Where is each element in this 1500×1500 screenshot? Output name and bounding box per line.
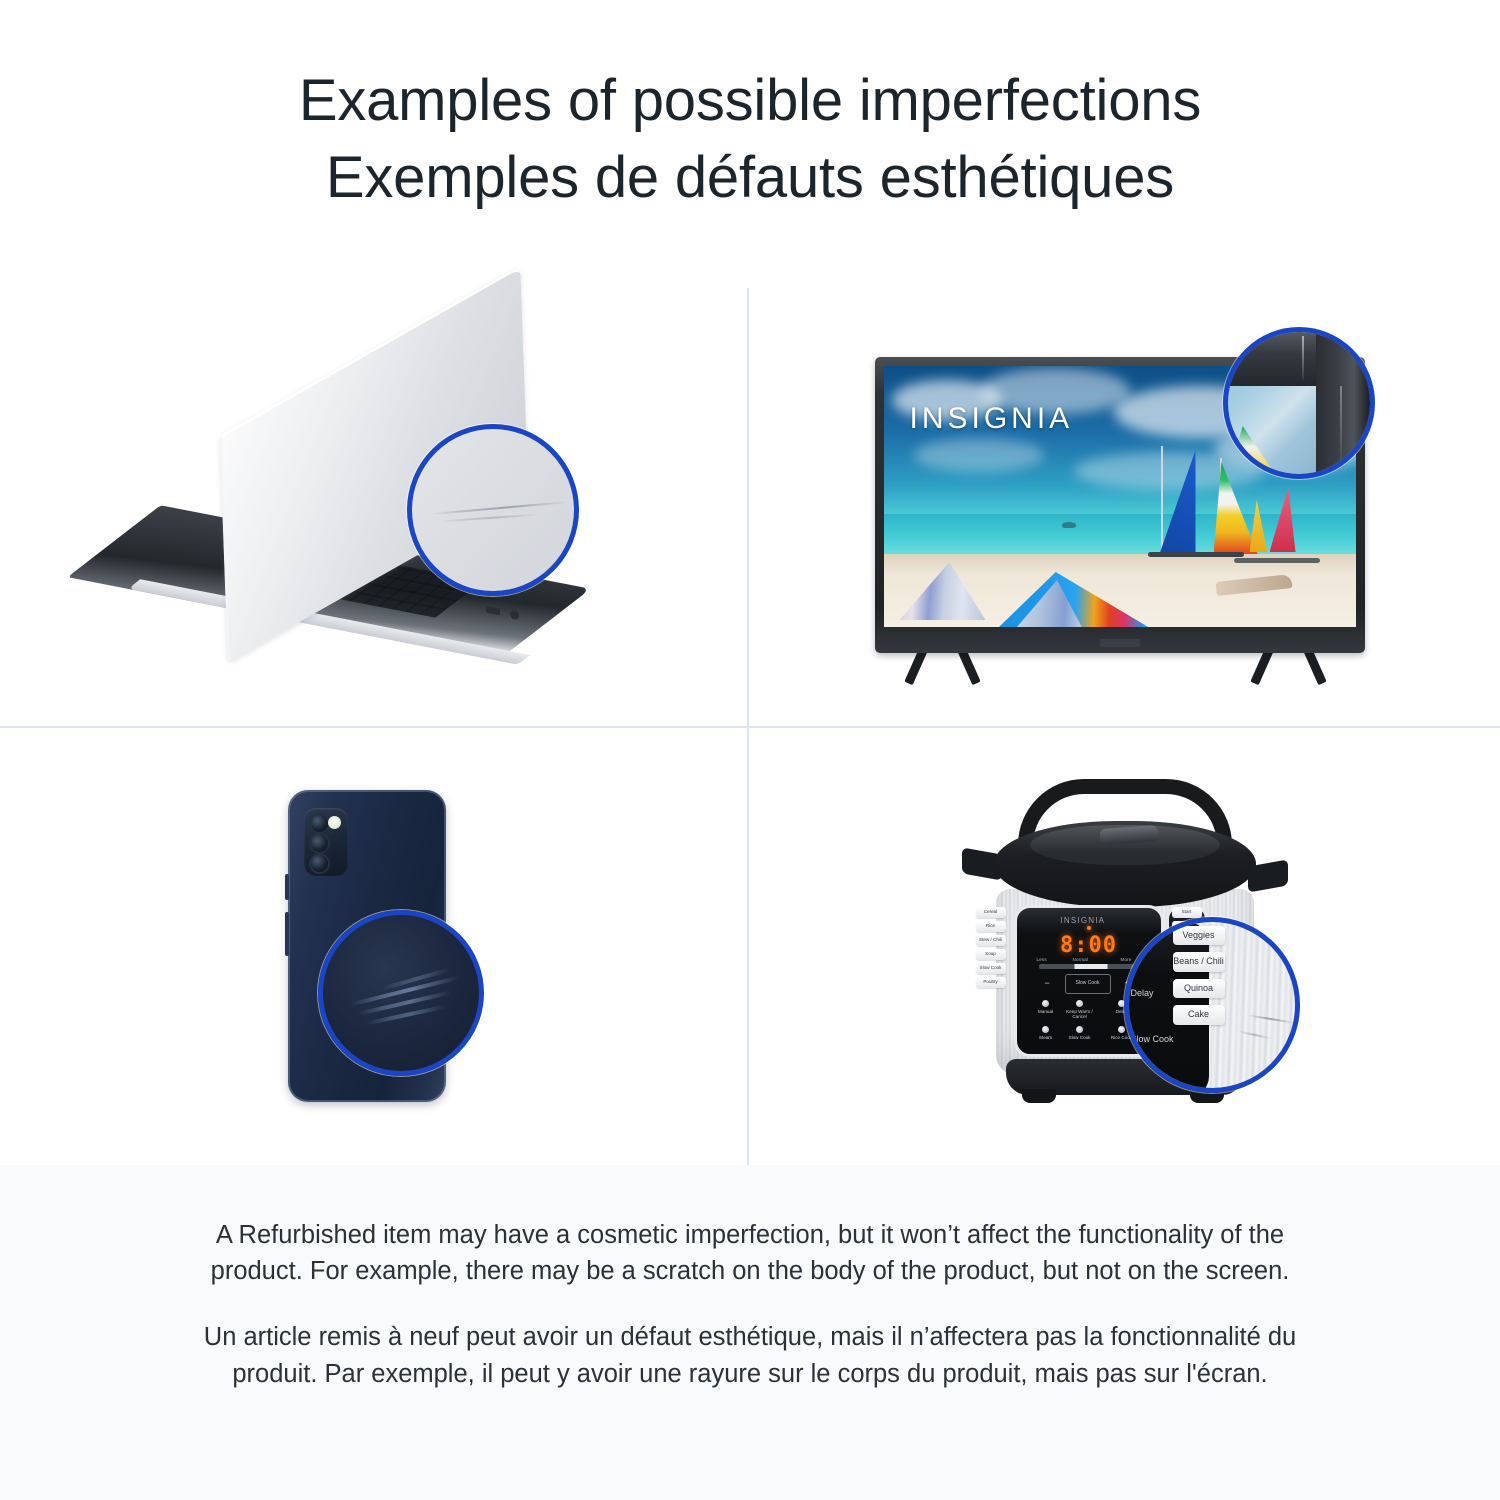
magnified-button[interactable]: Beans / Chili	[1173, 952, 1225, 971]
magnified-button[interactable]: Cake	[1173, 1005, 1225, 1024]
cooker-side-tab-right	[1248, 859, 1288, 892]
cell-television: INSIGNIA	[751, 288, 1498, 726]
magnified-button[interactable]: Veggies	[1173, 926, 1225, 945]
cooker-button[interactable]: Poultry	[976, 977, 1006, 988]
boat-hull	[1148, 552, 1244, 557]
cloud	[914, 438, 1044, 472]
cooker-brand-label: INSIGNIA	[1061, 916, 1106, 925]
camera-lens-icon	[311, 855, 328, 872]
camera-flash-icon	[328, 816, 341, 829]
magnified-bezel-right	[1316, 332, 1370, 479]
decrease-button[interactable]: −	[1045, 978, 1050, 988]
sail-mast	[1161, 446, 1163, 556]
tv-brand-logo: INSIGNIA	[910, 402, 1074, 436]
slider-label-normal: Normal	[1073, 957, 1089, 962]
boat-hull	[1234, 558, 1320, 563]
cooker-key[interactable]: Steam	[1031, 1026, 1061, 1040]
cooker-button[interactable]: Rice	[976, 921, 1006, 932]
scratch-mark	[1247, 1014, 1295, 1023]
scratch-mark	[357, 990, 451, 1015]
cell-laptop	[0, 288, 747, 726]
title-english: Examples of possible imperfections	[0, 62, 1500, 139]
cooker-button[interactable]: Cereal	[976, 907, 1006, 918]
television-illustration: INSIGNIA	[875, 327, 1375, 687]
cooker-left-button-column: Cereal Rice Stew / Chili Soup Slow Cook …	[976, 907, 1006, 988]
magnifier-circle-laptop	[407, 424, 579, 596]
cooker-led-display: 8:00	[1051, 932, 1127, 958]
page-title: Examples of possible imperfections Exemp…	[0, 62, 1500, 216]
magnified-side-label: Slow Cook	[1131, 1034, 1174, 1044]
scratch-mark	[440, 514, 540, 523]
cooker-button[interactable]: Soup	[976, 949, 1006, 960]
phone-camera-module	[304, 808, 348, 876]
pressure-cooker-illustration: Cereal Rice Stew / Chili Soup Slow Cook …	[960, 777, 1290, 1117]
scratch-mark	[1302, 336, 1304, 380]
scratch-mark	[1340, 386, 1342, 476]
cooker-button[interactable]: Stew / Chili	[976, 935, 1006, 946]
refurbished-imperfections-infographic: Examples of possible imperfections Exemp…	[0, 0, 1500, 1500]
laptop-illustration	[114, 342, 634, 672]
cooker-level-slider[interactable]	[1039, 964, 1143, 969]
tv-bottom-badge	[1100, 639, 1140, 647]
phone-power-button	[285, 912, 289, 956]
magnified-side-label: Delay	[1131, 988, 1154, 998]
distant-boat	[1062, 522, 1076, 528]
phone-volume-button	[285, 874, 289, 900]
scratch-mark	[430, 501, 570, 515]
description-french: Un article remis à neuf peut avoir un dé…	[170, 1319, 1330, 1391]
cooker-key[interactable]: Manual	[1031, 1000, 1061, 1014]
magnified-button[interactable]: Quinoa	[1173, 979, 1225, 998]
status-indicator-dot	[1087, 926, 1091, 930]
cell-pressure-cooker: Cereal Rice Stew / Chili Soup Slow Cook …	[751, 728, 1498, 1166]
cooker-button[interactable]: Slow Cook	[976, 963, 1006, 974]
magnifier-circle-television	[1223, 327, 1375, 479]
cooker-mode-readout: Slow Cook	[1065, 974, 1111, 994]
cell-smartphone	[0, 728, 747, 1166]
footer-description: A Refurbished item may have a cosmetic i…	[0, 1165, 1500, 1500]
scratch-mark	[1237, 1030, 1273, 1039]
slider-label-less: Less	[1037, 957, 1047, 962]
cooker-key[interactable]: Slow Cook	[1065, 1026, 1095, 1040]
product-examples-grid: INSIGNIA	[0, 288, 1500, 1165]
description-english: A Refurbished item may have a cosmetic i…	[170, 1217, 1330, 1289]
magnifier-circle-pressure-cooker: Delay Slow Cook Veggies Beans / Chili Qu…	[1124, 917, 1300, 1093]
title-french: Exemples de défauts esthétiques	[0, 139, 1500, 216]
smartphone-illustration	[254, 782, 494, 1112]
magnifier-circle-smartphone	[318, 910, 484, 1076]
camera-lens-icon	[311, 835, 328, 852]
cooker-foot-left	[1022, 1089, 1056, 1103]
magnified-button-column: Veggies Beans / Chili Quinoa Cake	[1173, 926, 1225, 1025]
cooker-button[interactable]: Start	[1172, 907, 1202, 918]
camera-lens-icon	[311, 815, 328, 832]
cooker-key[interactable]: Keep Warm / Cancel	[1065, 1000, 1095, 1019]
